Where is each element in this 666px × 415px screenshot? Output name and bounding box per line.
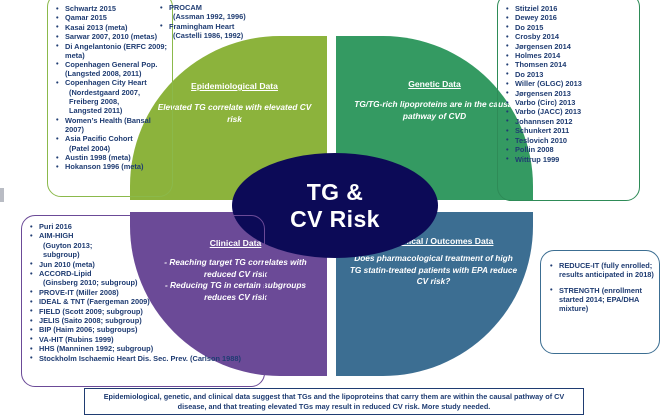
list-item: Wittrup 1999 <box>506 156 635 165</box>
list-item: Copenhagen General Pop. (Langsted 2008, … <box>56 61 168 79</box>
list-item: (Castelli 1986, 1992) <box>160 32 268 41</box>
list-item: subgroup) <box>30 251 260 260</box>
list-item: Willer (GLGC) 2013 <box>506 80 635 89</box>
list-item: Pollin 2008 <box>506 146 635 155</box>
clinical-reference-list: Puri 2016AIM-HIGH(Guyton 2013;subgroup)J… <box>30 223 260 364</box>
list-item: Stockholm Ischaemic Heart Dis. Sec. Prev… <box>30 355 260 364</box>
list-item: (Assman 1992, 1996) <box>160 13 268 22</box>
quadrant-epidemiological-text: Elevated TG correlate with elevated CV r… <box>156 102 313 125</box>
list-item: Asia Pacific Cohort <box>56 135 168 144</box>
page-edge-artifact <box>0 188 4 202</box>
summary-box: Epidemiological, genetic, and clinical d… <box>84 388 584 415</box>
list-item: HHS (Manninen 1992; subgroup) <box>30 345 260 354</box>
list-item: AIM-HIGH <box>30 232 260 241</box>
epa-reference-box: REDUCE-IT (fully enrolled; results antic… <box>540 250 660 354</box>
clinical-reference-box: Puri 2016AIM-HIGH(Guyton 2013;subgroup)J… <box>21 215 265 387</box>
list-item: Copenhagen City Heart <box>56 79 168 88</box>
list-item: Schunkert 2011 <box>506 127 635 136</box>
list-item: Dewey 2016 <box>506 14 635 23</box>
list-item: STRENGTH (enrollment started 2014; EPA/D… <box>550 287 655 314</box>
list-item: IDEAL & TNT (Faergeman 2009) <box>30 298 260 307</box>
list-item: Hokanson 1996 (meta) <box>56 163 168 172</box>
genetic-reference-box: Stitziel 2016Dewey 2016Do 2015Crosby 201… <box>497 0 640 201</box>
list-item: REDUCE-IT (fully enrolled; results antic… <box>550 262 655 280</box>
epidemiological-reference-list-2: PROCAM(Assman 1992, 1996)Framingham Hear… <box>160 4 268 41</box>
quadrant-genetic-title: Genetic Data <box>352 79 517 90</box>
quadrant-epa-text: Does pharmacological treatment of high T… <box>348 253 519 288</box>
hub-line-2: CV Risk <box>290 206 380 233</box>
list-item: Women’s Health (Bansal 2007) <box>56 117 168 135</box>
quadrant-genetic-text: TG/TG-rich lipoproteins are in the causa… <box>352 99 517 122</box>
genetic-reference-list: Stitziel 2016Dewey 2016Do 2015Crosby 201… <box>506 5 635 164</box>
epidemiological-reference-box-2: PROCAM(Assman 1992, 1996)Framingham Hear… <box>152 0 272 49</box>
list-item: Thomsen 2014 <box>506 61 635 70</box>
list-item: Crosby 2014 <box>506 33 635 42</box>
quadrant-epidemiological-title: Epidemiological Data <box>156 81 313 92</box>
epa-reference-list: REDUCE-IT (fully enrolled; results antic… <box>550 262 655 314</box>
list-item: (Ginsberg 2010; subgroup) <box>30 279 260 288</box>
hub-line-1: TG & <box>307 179 364 206</box>
